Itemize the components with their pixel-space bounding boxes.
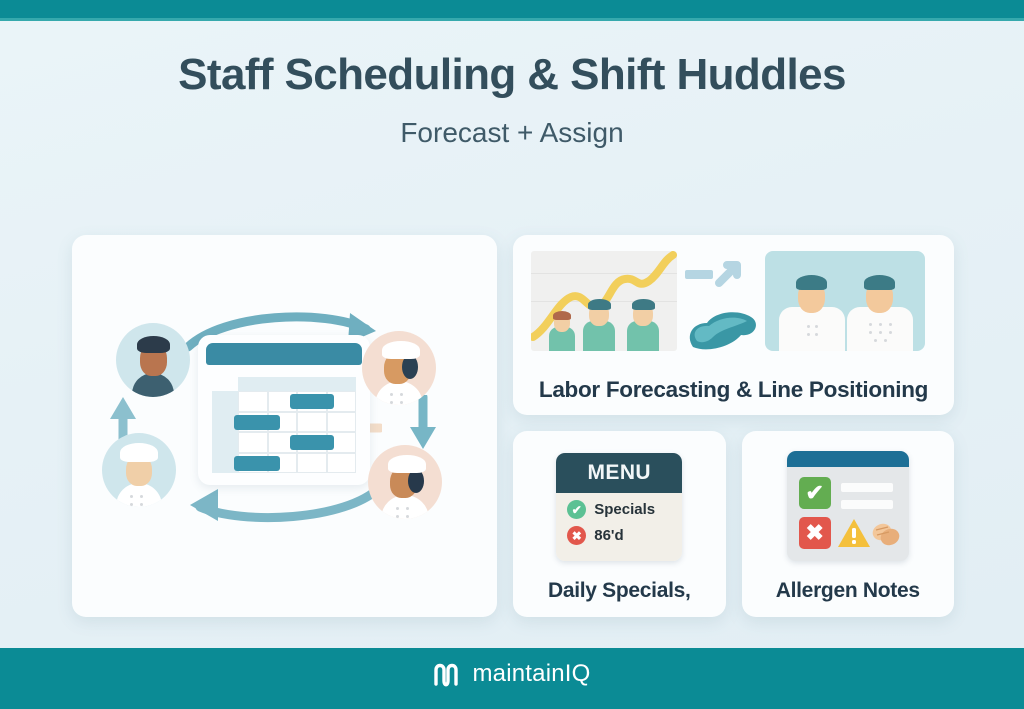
crew-figure (627, 299, 659, 351)
forecast-chart (531, 251, 677, 351)
crew-figure (583, 299, 615, 351)
grid-cell (327, 412, 357, 433)
transition-arrow-icon (685, 261, 753, 289)
page-subtitle: Forecast + Assign (0, 117, 1024, 149)
x-square-icon: ✖ (799, 517, 831, 549)
schedule-task-bar[interactable] (234, 415, 280, 430)
schedule-board-header (206, 343, 362, 365)
chef-hat-shape-icon (685, 301, 763, 353)
schedule-task-bar[interactable] (290, 435, 334, 450)
card-allergen-notes[interactable]: ✔ ✖ (742, 431, 955, 617)
menu-item-label: Specials (594, 501, 655, 518)
bottom-cards-row: MENU ✔ Specials ✖ 86'd Daily (513, 431, 954, 617)
menu-item-86d[interactable]: ✖ 86'd (567, 526, 682, 545)
text-line (841, 483, 893, 492)
schedule-task-bar[interactable] (234, 456, 280, 471)
grid-cell (238, 391, 268, 412)
maintainiq-logo-mark-icon (433, 661, 463, 687)
menu-board-title: MENU (556, 453, 682, 493)
slide-canvas: Staff Scheduling & Shift Huddles Forecas… (0, 21, 1024, 648)
card-caption-menu: Daily Specials, (513, 579, 726, 603)
schedule-grid (212, 377, 356, 473)
peanut-allergen-icon (871, 521, 901, 547)
warning-triangle-icon (837, 517, 871, 549)
avatar-chef-one[interactable] (102, 433, 176, 507)
schedule-board[interactable] (198, 335, 370, 485)
card-caption-forecast: Labor Forecasting & Line Positioning (513, 377, 954, 403)
text-line (841, 500, 893, 509)
menu-item-specials[interactable]: ✔ Specials (567, 500, 682, 519)
grid-cell (297, 453, 327, 474)
staff-rotation-illustration (72, 235, 497, 617)
allergen-document[interactable]: ✔ ✖ (787, 451, 909, 561)
avatar-staff-apron[interactable] (116, 323, 190, 397)
flow-arrow-bottom (170, 481, 384, 527)
card-staff-rotation[interactable] (72, 235, 497, 617)
menu-item-label: 86'd (594, 527, 623, 544)
crew-figure (549, 311, 575, 351)
menu-board[interactable]: MENU ✔ Specials ✖ 86'd (556, 453, 682, 561)
header-block: Staff Scheduling & Shift Huddles Forecas… (0, 51, 1024, 149)
line-positioning-chefs (765, 251, 925, 351)
check-circle-icon: ✔ (567, 500, 586, 519)
grid-header-row (238, 377, 356, 391)
grid-cell (297, 412, 327, 433)
check-square-icon: ✔ (799, 477, 831, 509)
x-circle-icon: ✖ (567, 526, 586, 545)
card-daily-specials[interactable]: MENU ✔ Specials ✖ 86'd Daily (513, 431, 726, 617)
document-header-bar (787, 451, 909, 467)
top-brand-bar (0, 0, 1024, 18)
page-title: Staff Scheduling & Shift Huddles (0, 51, 1024, 99)
grid-cell (327, 453, 357, 474)
schedule-task-bar[interactable] (290, 394, 334, 409)
grid-cell (238, 432, 268, 453)
right-column: Labor Forecasting & Line Positioning MEN… (513, 235, 954, 617)
maintainiq-logo-text: maintainIQ (472, 660, 590, 688)
document-body: ✔ ✖ (787, 467, 909, 561)
avatar-chef-three[interactable] (368, 445, 442, 519)
footer-logo[interactable]: maintainIQ (0, 660, 1024, 688)
card-labor-forecasting[interactable]: Labor Forecasting & Line Positioning (513, 235, 954, 415)
cards-container: Labor Forecasting & Line Positioning MEN… (72, 235, 954, 617)
card-caption-allergen: Allergen Notes (742, 579, 955, 603)
forecast-illustration (513, 235, 954, 367)
menu-board-items: ✔ Specials ✖ 86'd (556, 493, 682, 561)
avatar-chef-two[interactable] (362, 331, 436, 405)
